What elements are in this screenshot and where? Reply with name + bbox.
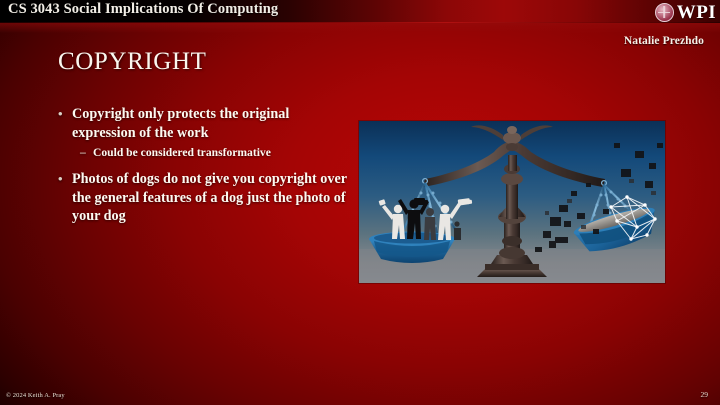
- slide-number: 29: [701, 390, 709, 399]
- header-underglow: [0, 23, 720, 33]
- bullet-marker-icon: •: [58, 170, 72, 189]
- bullet-item: • Copyright only protects the original e…: [58, 105, 353, 142]
- presenter-name: Natalie Prezhdo: [624, 35, 704, 47]
- sub-bullet-item: – Could be considered transformative: [80, 145, 353, 161]
- wpi-wordmark: WPI: [677, 3, 716, 22]
- bullet-text: Photos of dogs do not give you copyright…: [72, 170, 353, 226]
- bullet-marker-icon: •: [58, 105, 72, 124]
- bullet-text: Copyright only protects the original exp…: [72, 105, 353, 142]
- balance-scale-illustration: [359, 121, 665, 283]
- bullet-item: • Photos of dogs do not give you copyrig…: [58, 170, 353, 226]
- copyright-notice: © 2024 Keith A. Pray: [6, 392, 65, 399]
- wpi-logo: WPI: [655, 1, 716, 23]
- slide-title: COPYRIGHT: [58, 48, 206, 76]
- course-title: CS 3043 Social Implications Of Computing: [8, 1, 278, 18]
- sub-bullet-text: Could be considered transformative: [93, 145, 353, 161]
- wpi-seal-icon: [655, 3, 674, 22]
- slide-canvas: CS 3043 Social Implications Of Computing…: [0, 0, 720, 405]
- slide-body: • Copyright only protects the original e…: [58, 105, 353, 229]
- dash-marker-icon: –: [80, 145, 93, 161]
- slide-image-balance-scale: [359, 121, 665, 283]
